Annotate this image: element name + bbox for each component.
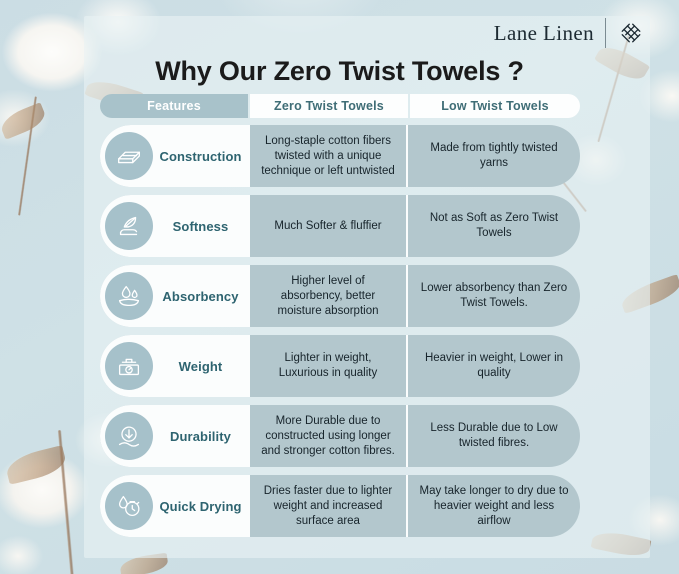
folded-towel-icon [105,132,153,180]
infographic-content: Lane Linen Why Our Zero Twist Towels ? F… [0,0,679,574]
feature-cell: Quick Drying [100,475,248,537]
feature-cell: Durability [100,405,248,467]
feature-cell: Construction [100,125,248,187]
zero-twist-cell: Lighter in weight, Luxurious in quality [248,335,406,397]
down-arrow-circle-icon [105,412,153,460]
droplet-stopwatch-icon [105,482,153,530]
table-row: Weight Lighter in weight, Luxurious in q… [100,335,580,397]
low-twist-cell: Not as Soft as Zero Twist Towels [406,195,580,257]
low-twist-cell: May take longer to dry due to heavier we… [406,475,580,537]
column-header-low-twist: Low Twist Towels [410,94,580,118]
table-row: Durability More Durable due to construct… [100,405,580,467]
weighing-scale-icon [105,342,153,390]
woven-lattice-logo-icon [617,19,645,47]
zero-twist-cell: More Durable due to constructed using lo… [248,405,406,467]
zero-twist-cell: Long-staple cotton fibers twisted with a… [248,125,406,187]
hand-feather-icon [105,202,153,250]
feature-label: Softness [153,219,248,234]
zero-twist-cell: Higher level of absorbency, better moist… [248,265,406,327]
feature-cell: Weight [100,335,248,397]
brand-divider [605,18,606,48]
table-row: Absorbency Higher level of absorbency, b… [100,265,580,327]
brand-lockup: Lane Linen [494,18,645,48]
brand-name: Lane Linen [494,21,594,46]
feature-label: Durability [153,429,248,444]
zero-twist-cell: Dries faster due to lighter weight and i… [248,475,406,537]
table-header-row: Features Zero Twist Towels Low Twist Tow… [100,94,580,118]
table-row: Softness Much Softer & fluffier Not as S… [100,195,580,257]
feature-cell: Absorbency [100,265,248,327]
feature-label: Weight [153,359,248,374]
low-twist-cell: Made from tightly twisted yarns [406,125,580,187]
water-droplet-icon [105,272,153,320]
low-twist-cell: Less Durable due to Low twisted fibres. [406,405,580,467]
zero-twist-cell: Much Softer & fluffier [248,195,406,257]
table-row: Quick Drying Dries faster due to lighter… [100,475,580,537]
page-title: Why Our Zero Twist Towels ? [0,56,679,87]
table-row: Construction Long-staple cotton fibers t… [100,125,580,187]
feature-label: Quick Drying [153,499,248,514]
comparison-table: Features Zero Twist Towels Low Twist Tow… [100,94,580,545]
feature-label: Absorbency [153,289,248,304]
low-twist-cell: Heavier in weight, Lower in quality [406,335,580,397]
feature-cell: Softness [100,195,248,257]
column-header-zero-twist: Zero Twist Towels [250,94,408,118]
low-twist-cell: Lower absorbency than Zero Twist Towels. [406,265,580,327]
column-header-features: Features [100,94,248,118]
feature-label: Construction [153,149,248,164]
